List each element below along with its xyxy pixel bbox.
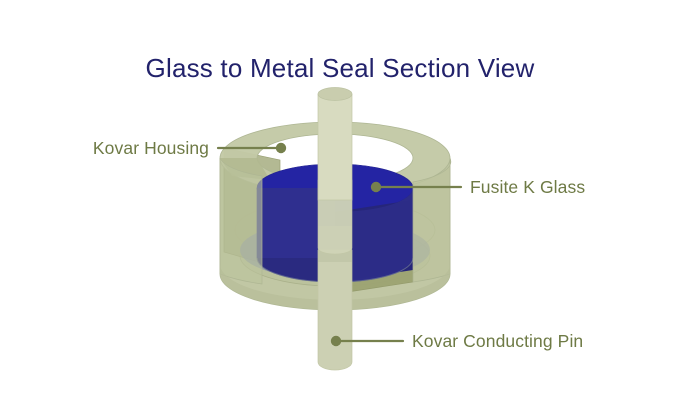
callout-label-fusite-k-glass: Fusite K Glass (470, 177, 585, 197)
page-title: Glass to Metal Seal Section View (146, 53, 535, 83)
glass-to-metal-seal-diagram: Glass to Metal Seal Section View (0, 0, 680, 400)
callout-kovar-conducting-pin[interactable]: Kovar Conducting Pin (331, 331, 583, 351)
callout-label-kovar-conducting-pin: Kovar Conducting Pin (412, 331, 583, 351)
seal-assembly (220, 88, 451, 371)
kovar-conducting-pin (318, 88, 352, 371)
pin-top-cap (318, 88, 352, 101)
leader-dot-fusite-k-glass (371, 182, 381, 192)
leader-dot-kovar-conducting-pin (331, 336, 341, 346)
housing-front-translucent-wall-left (220, 158, 262, 284)
pin-lower-shaft (318, 250, 352, 370)
pin-upper-shaft (318, 94, 352, 200)
diagram-canvas: Glass to Metal Seal Section View (0, 0, 680, 400)
leader-dot-kovar-housing (276, 143, 286, 153)
callout-label-kovar-housing: Kovar Housing (93, 138, 209, 158)
